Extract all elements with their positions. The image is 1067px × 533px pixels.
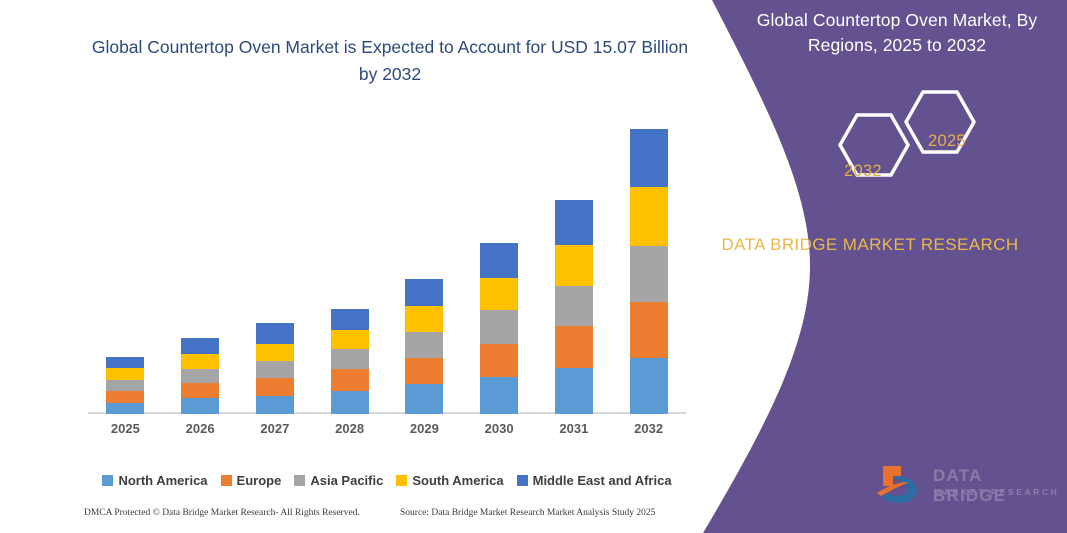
legend-item[interactable]: Asia Pacific <box>294 473 383 488</box>
brand-panel: Global Countertop Oven Market, By Region… <box>660 0 1067 533</box>
company-logo: DATA BRIDGE MARKET RESEARCH <box>875 462 1061 510</box>
footer: DMCA Protected © Data Bridge Market Rese… <box>84 508 684 524</box>
bar-segment[interactable] <box>106 380 144 391</box>
bar-segment[interactable] <box>331 349 369 369</box>
logo-text-primary: DATA BRIDGE <box>933 466 1061 506</box>
bar-segment[interactable] <box>555 245 593 286</box>
legend-swatch-icon <box>221 475 232 486</box>
legend-label: Asia Pacific <box>310 473 383 488</box>
bar-segment[interactable] <box>555 286 593 327</box>
hexagon-years-graphic: 2025 2032 <box>810 90 1030 200</box>
bar-segment[interactable] <box>331 309 369 330</box>
bar-segment[interactable] <box>405 358 443 384</box>
x-axis-label: 2025 <box>90 421 160 436</box>
bar-segment[interactable] <box>181 354 219 369</box>
hexagon-outlines-svg <box>810 90 1030 200</box>
bar-segment[interactable] <box>106 368 144 379</box>
x-axis-labels: 20252026202720282029203020312032 <box>88 421 686 443</box>
bar-column[interactable] <box>331 309 369 414</box>
legend-item[interactable]: Middle East and Africa <box>517 473 672 488</box>
bar-segment[interactable] <box>405 384 443 414</box>
bar-segment[interactable] <box>331 369 369 390</box>
stacked-bar-chart <box>88 120 686 414</box>
bar-segment[interactable] <box>256 378 294 396</box>
x-axis-label: 2028 <box>315 421 385 436</box>
bar-segment[interactable] <box>181 338 219 355</box>
bar-segment[interactable] <box>480 377 518 414</box>
bar-segment[interactable] <box>256 361 294 378</box>
data-bridge-logo-icon <box>875 462 927 506</box>
legend-swatch-icon <box>294 475 305 486</box>
legend-swatch-icon <box>102 475 113 486</box>
x-axis-label: 2026 <box>165 421 235 436</box>
page-title: Global Countertop Oven Market is Expecte… <box>90 34 690 88</box>
legend-item[interactable]: Europe <box>221 473 282 488</box>
legend-swatch-icon <box>396 475 407 486</box>
infographic-root: Global Countertop Oven Market is Expecte… <box>0 0 1067 533</box>
bar-column[interactable] <box>106 357 144 414</box>
footer-copyright: DMCA Protected © Data Bridge Market Rese… <box>84 508 360 518</box>
bar-column[interactable] <box>405 279 443 414</box>
x-axis-label: 2029 <box>389 421 459 436</box>
bar-segment[interactable] <box>405 306 443 331</box>
bar-segment[interactable] <box>555 326 593 368</box>
bar-segment[interactable] <box>256 323 294 343</box>
bar-segment[interactable] <box>106 391 144 402</box>
brand-name: DATA BRIDGE MARKET RESEARCH <box>705 232 1035 258</box>
legend-swatch-icon <box>517 475 528 486</box>
chart-legend: North AmericaEuropeAsia PacificSouth Ame… <box>88 470 686 490</box>
bar-segment[interactable] <box>256 396 294 414</box>
bar-segment[interactable] <box>256 344 294 361</box>
legend-label: South America <box>412 473 503 488</box>
x-axis-label: 2031 <box>539 421 609 436</box>
hexagon-label-2032: 2032 <box>844 162 882 181</box>
bar-segment[interactable] <box>480 243 518 278</box>
hexagon-label-2025: 2025 <box>928 132 966 151</box>
legend-label: Middle East and Africa <box>533 473 672 488</box>
bar-column[interactable] <box>256 323 294 414</box>
footer-source: Source: Data Bridge Market Research Mark… <box>400 508 655 518</box>
bar-segment[interactable] <box>181 369 219 383</box>
legend-item[interactable]: North America <box>102 473 207 488</box>
bar-segment[interactable] <box>480 344 518 377</box>
legend-label: Europe <box>237 473 282 488</box>
bar-segment[interactable] <box>405 332 443 358</box>
bar-segment[interactable] <box>555 368 593 414</box>
bar-column[interactable] <box>555 200 593 414</box>
bar-segment[interactable] <box>480 278 518 311</box>
bar-segment[interactable] <box>106 357 144 368</box>
bar-column[interactable] <box>181 338 219 415</box>
bar-segment[interactable] <box>555 200 593 245</box>
bar-segment[interactable] <box>331 391 369 414</box>
bar-segment[interactable] <box>181 383 219 398</box>
x-axis-label: 2027 <box>240 421 310 436</box>
x-axis-label: 2030 <box>464 421 534 436</box>
legend-item[interactable]: South America <box>396 473 503 488</box>
bar-segment[interactable] <box>480 310 518 343</box>
bar-segment[interactable] <box>106 403 144 414</box>
bar-segment[interactable] <box>331 330 369 349</box>
bar-column[interactable] <box>480 243 518 414</box>
bar-segment[interactable] <box>181 398 219 414</box>
legend-label: North America <box>118 473 207 488</box>
logo-text-secondary: MARKET RESEARCH <box>934 487 1059 497</box>
panel-title: Global Countertop Oven Market, By Region… <box>738 8 1056 58</box>
bar-segment[interactable] <box>405 279 443 307</box>
